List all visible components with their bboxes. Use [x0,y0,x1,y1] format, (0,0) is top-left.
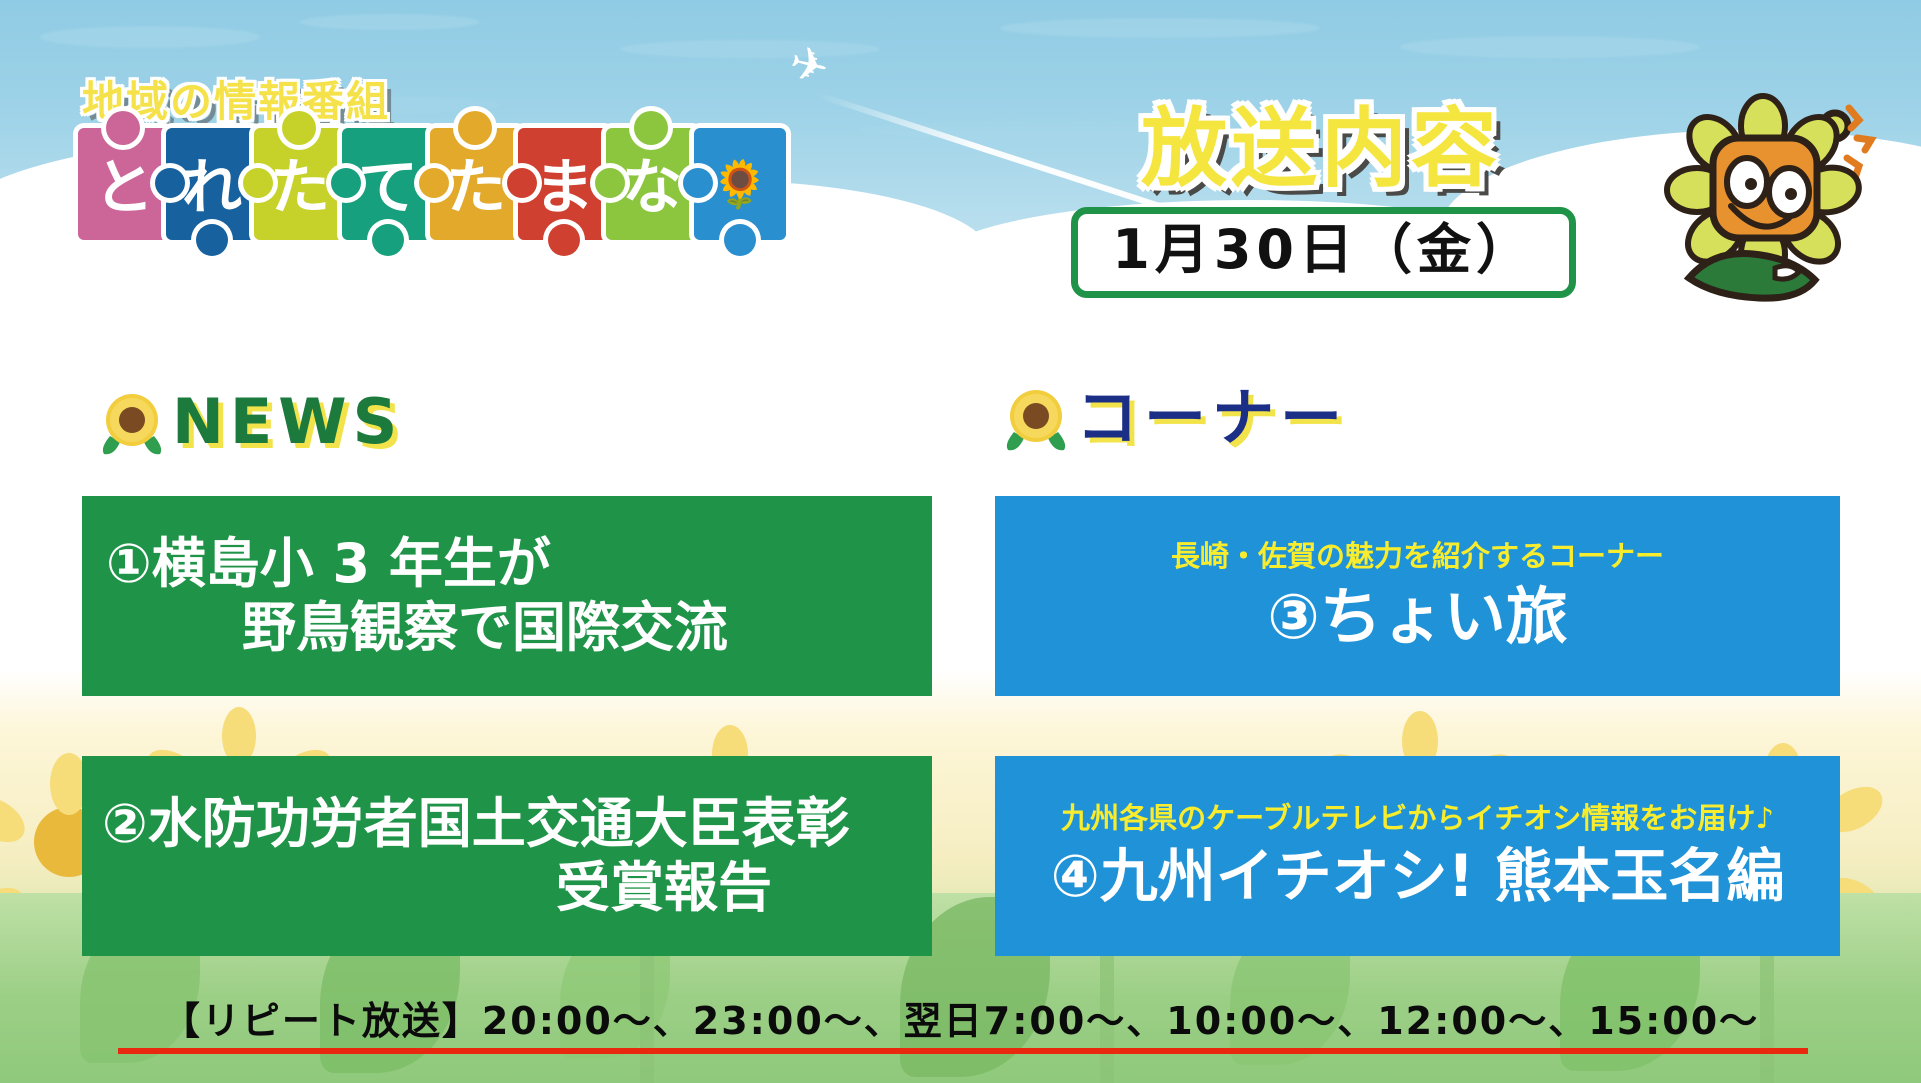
logo-puzzle-piece-1: と [78,128,170,240]
broadcast-schedule-poster: ✈ [0,0,1921,1083]
puzzle-piece-char: た [270,158,330,218]
news-item-1-line1: ①横島小 3 年生が [82,532,932,596]
puzzle-piece-mascot-icon: 🌻 [711,161,768,207]
program-logo-puzzle: とれたてたまな🌻 [78,128,782,246]
puzzle-knob-bottom [372,224,404,256]
puzzle-knob-bottom [548,224,580,256]
puzzle-piece-char: な [622,158,682,218]
news-item-2-line2: 受賞報告 [82,856,932,920]
news-item-2-line1: ②水防功労者国土交通大臣表彰 [82,792,932,856]
puzzle-knob-bottom [196,224,228,256]
corner-item-3-title: ③ちょい旅 [1267,580,1568,653]
sunflower-icon [1000,382,1072,454]
corner-heading-label: コーナー [1076,387,1348,449]
broadcast-title: 放送内容 [1141,78,1501,203]
puzzle-knob-top [106,111,140,145]
sunflower-mascot-icon [1643,82,1893,312]
news-item-1[interactable]: ①横島小 3 年生が 野鳥観察で国際交流 [82,496,932,696]
puzzle-knob-right [507,168,537,198]
puzzle-knob-right [243,168,273,198]
puzzle-piece-char: た [446,158,506,218]
corner-item-3[interactable]: 長崎・佐賀の魅力を紹介するコーナー ③ちょい旅 [995,496,1840,696]
corner-item-4-title: ④九州イチオシ! 熊本玉名編 [1051,842,1785,910]
puzzle-knob-right [155,168,185,198]
puzzle-piece-char: れ [182,158,242,218]
corner-item-4[interactable]: 九州各県のケーブルテレビからイチオシ情報をお届け♪ ④九州イチオシ! 熊本玉名編 [995,756,1840,956]
corner-item-3-subtitle: 長崎・佐賀の魅力を紹介するコーナー [1171,539,1664,574]
puzzle-knob-right [595,168,625,198]
broadcast-date-chip: 1月30日（金） [1071,207,1576,298]
puzzle-knob-right [419,168,449,198]
news-item-2[interactable]: ②水防功労者国土交通大臣表彰 受賞報告 [82,756,932,956]
corner-item-4-subtitle: 九州各県のケーブルテレビからイチオシ情報をお届け♪ [1061,801,1774,836]
broadcast-date: 1月30日（金） [1112,218,1535,281]
puzzle-knob-top [634,111,668,145]
footer-rule [118,1048,1808,1054]
puzzle-knob-top [282,111,316,145]
section-heading-corner: コーナー [1000,382,1348,454]
footer-repeat-broadcast: 【リピート放送】20:00〜、23:00〜、翌日7:00〜、10:00〜、12:… [0,990,1921,1045]
puzzle-piece-char: と [94,158,154,218]
puzzle-knob-top [458,111,492,145]
news-item-1-line2: 野鳥観察で国際交流 [82,596,932,660]
puzzle-knob-right [331,168,361,198]
puzzle-piece-char: ま [534,158,594,218]
puzzle-knob-bottom [724,224,756,256]
sunflower-icon [96,386,168,458]
repeat-broadcast-text: 【リピート放送】20:00〜、23:00〜、翌日7:00〜、10:00〜、12:… [0,990,1921,1045]
puzzle-knob-right [683,168,713,198]
section-heading-news: NEWS [96,386,403,458]
puzzle-piece-char: て [358,158,418,218]
news-heading-label: NEWS [172,391,403,453]
